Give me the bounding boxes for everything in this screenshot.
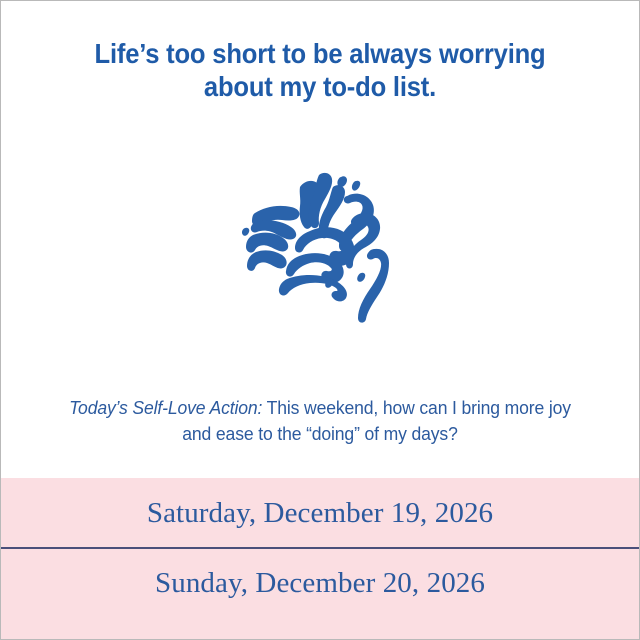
- calendar-page: Life’s too short to be always worrying a…: [0, 0, 640, 640]
- date-band: Saturday, December 19, 2026 Sunday, Dece…: [1, 478, 639, 639]
- date-label-sunday: Sunday, December 20, 2026: [155, 566, 485, 600]
- date-row-sunday[interactable]: Sunday, December 20, 2026: [1, 549, 639, 617]
- date-label-saturday: Saturday, December 19, 2026: [147, 496, 493, 530]
- page-title: Life’s too short to be always worrying a…: [23, 37, 616, 103]
- date-row-saturday[interactable]: Saturday, December 19, 2026: [1, 478, 639, 548]
- blue-brush-flower-icon: [237, 169, 403, 325]
- self-love-action-prompt: Today’s Self-Love Action: This weekend, …: [66, 395, 573, 447]
- upper-white-panel: Life’s too short to be always worrying a…: [1, 1, 639, 478]
- self-love-action-label: Today’s Self-Love Action:: [69, 397, 262, 418]
